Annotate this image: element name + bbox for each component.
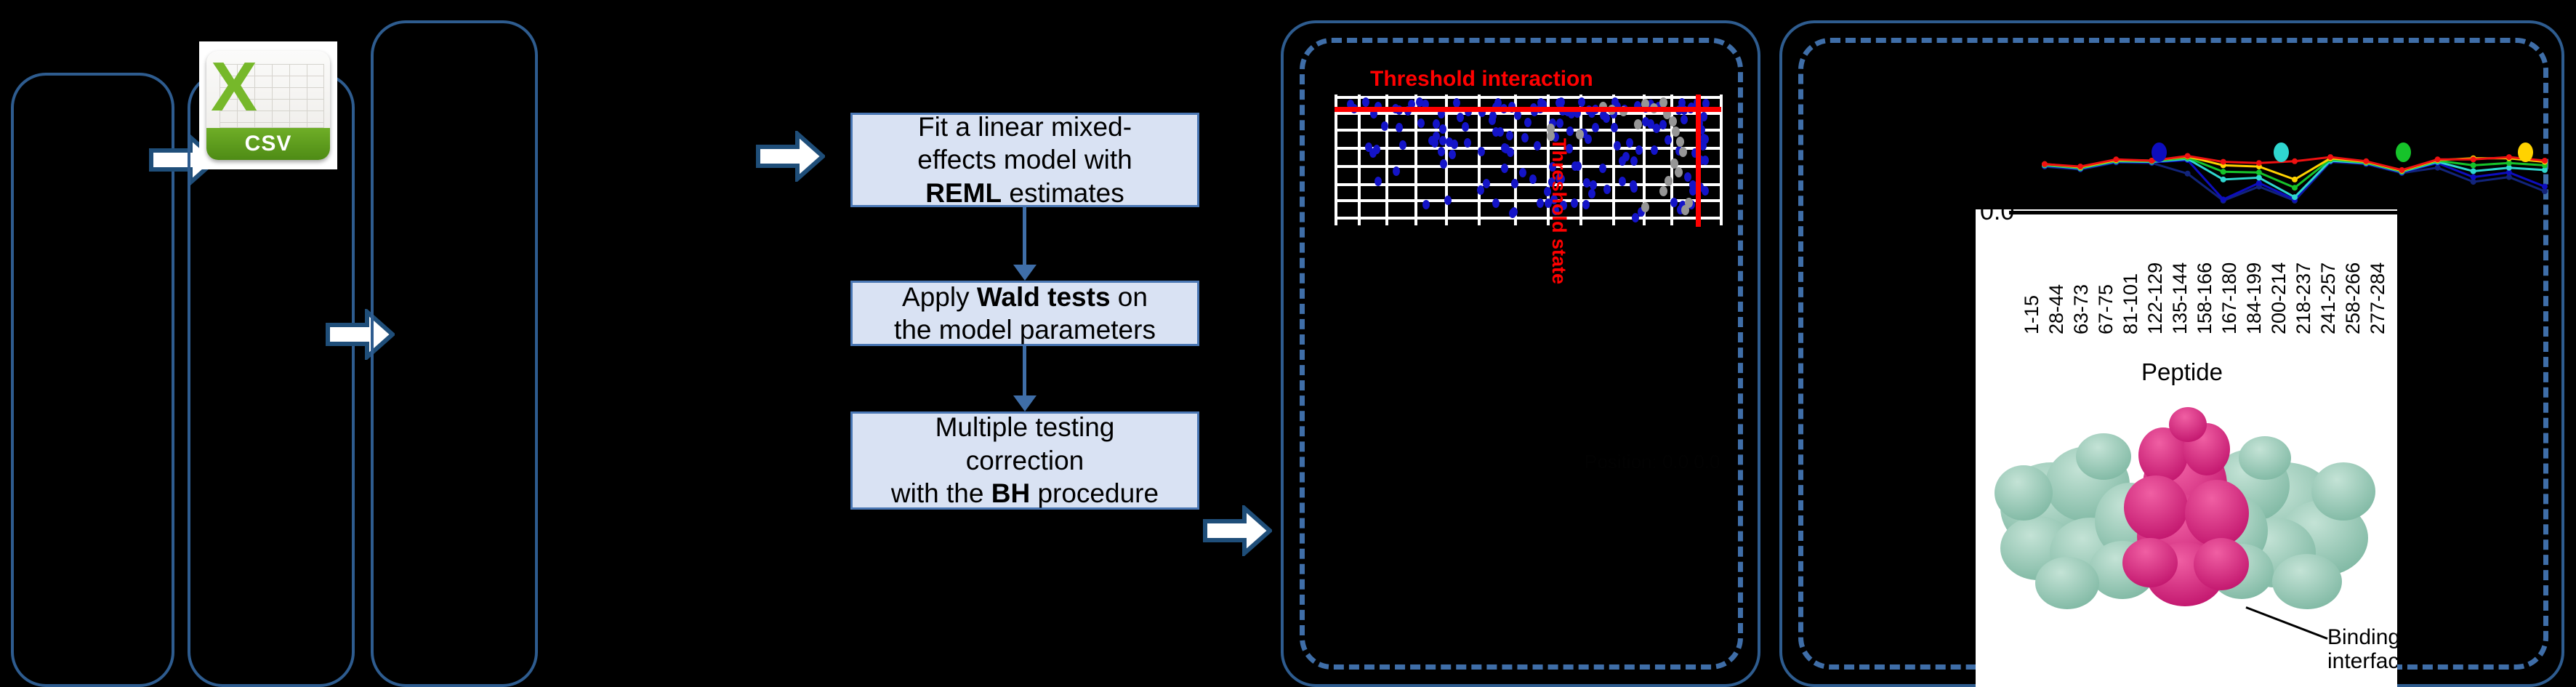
- scatter-point: [1582, 200, 1590, 209]
- connector-1-arrowhead: [1013, 265, 1037, 281]
- scatter-point: [1599, 164, 1606, 173]
- scatter-point: [1630, 156, 1638, 166]
- peptide-series-marker: [2256, 180, 2262, 186]
- peptide-legend-dot: [2274, 142, 2289, 162]
- peptide-legend-dot: [2396, 142, 2411, 162]
- scatter-point: [1446, 137, 1453, 147]
- peptide-series-marker: [2506, 154, 2512, 160]
- scatter-point: [1478, 147, 1485, 156]
- peptide-tick-label: 67-75: [2095, 284, 2117, 334]
- scatter-point: [1619, 177, 1626, 186]
- scatter-point: [1702, 156, 1709, 165]
- bh-correction-box-text: Multiple testingcorrectionwith the BH pr…: [891, 411, 1159, 510]
- csv-x-letter: X: [211, 54, 254, 120]
- peptide-line-chart: [2032, 129, 2555, 213]
- fit-model-box[interactable]: Fit a linear mixed-effects model withREM…: [850, 113, 1199, 207]
- fit-model-box-text: Fit a linear mixed-effects model withREM…: [917, 111, 1132, 210]
- binding-interface-line1: Binding: [2327, 625, 2397, 649]
- scatter-point: [1483, 179, 1490, 188]
- scatter-gridline-h: [1335, 165, 1721, 168]
- scatter-point: [1492, 198, 1500, 208]
- pipeline-figure: X CSV Fit a linear mixed-effects model w…: [0, 0, 2576, 687]
- peptide-series-marker: [2471, 174, 2476, 180]
- scatter-point: [1477, 185, 1484, 195]
- scatter-point-nonsignificant: [1634, 119, 1642, 129]
- peptide-tick-label: 28-44: [2045, 284, 2068, 334]
- position-readout: Position: 0.0 0.0: [1585, 451, 1720, 473]
- peptide-series-marker: [2221, 159, 2226, 165]
- peptide-series-marker: [2256, 169, 2262, 175]
- peptide-legend-dot: [2152, 142, 2167, 162]
- scatter-point: [1537, 198, 1544, 208]
- scatter-point: [1438, 147, 1445, 156]
- arrow-csv-to-model: [756, 131, 825, 182]
- csv-file-icon: X CSV: [199, 41, 337, 169]
- scatter-point: [1444, 196, 1452, 205]
- scatter-point-nonsignificant: [1669, 116, 1677, 126]
- peptide-tick-label: 277-284: [2367, 262, 2389, 334]
- scatter-gridline-h: [1335, 199, 1721, 202]
- peptide-series-marker: [2363, 158, 2369, 164]
- y-axis-top-value: 0.0: [1980, 209, 2014, 226]
- scatter-point-nonsignificant: [1679, 147, 1687, 157]
- peptide-tick-label: 167-180: [2218, 262, 2241, 334]
- scatter-point-nonsignificant: [1681, 205, 1689, 215]
- peptide-axis-line: [2009, 211, 2397, 214]
- scatter-point: [1396, 123, 1403, 132]
- peptide-series-marker: [2292, 194, 2298, 200]
- scatter-point: [1449, 150, 1456, 159]
- peptide-axis-title: Peptide: [2141, 358, 2223, 386]
- peptide-series-marker: [2185, 171, 2191, 177]
- csv-extension-label: CSV: [245, 132, 292, 156]
- peptide-series-marker: [2542, 158, 2548, 164]
- peptide-series-marker: [2221, 169, 2226, 174]
- scatter-point: [1489, 116, 1496, 125]
- scatter-point: [1665, 135, 1672, 145]
- scatter-point: [1362, 97, 1369, 107]
- scatter-point: [1583, 178, 1590, 188]
- peptide-series-marker: [2113, 156, 2119, 162]
- peptide-series-marker: [2292, 177, 2298, 182]
- scatter-point: [1433, 119, 1440, 129]
- threshold-state-label: Threshold state: [1547, 138, 1570, 284]
- peptide-tick-label: 218-237: [2293, 262, 2315, 334]
- wald-tests-box[interactable]: Apply Wald tests onthe model parameters: [850, 281, 1199, 346]
- scatter-gridline-h: [1335, 147, 1721, 150]
- scatter-point: [1566, 126, 1574, 136]
- csv-badge: X CSV: [206, 51, 330, 160]
- scatter-point: [1578, 97, 1585, 107]
- scatter-point: [1422, 200, 1430, 209]
- scatter-point: [1681, 115, 1688, 124]
- peptide-tick-label: 122-129: [2144, 262, 2167, 334]
- protein-structure-image: [1995, 398, 2387, 638]
- scatter-point: [1622, 152, 1630, 161]
- peptide-tick-label: 1-15: [2021, 295, 2043, 334]
- scatter-point: [1462, 122, 1469, 132]
- scatter-point-nonsignificant: [1675, 167, 1683, 177]
- connector-2: [1023, 346, 1026, 397]
- bh-correction-box[interactable]: Multiple testingcorrectionwith the BH pr…: [850, 411, 1199, 510]
- scatter-point: [1611, 123, 1618, 132]
- threshold-interaction-title: Threshold interaction: [1370, 67, 1593, 92]
- scatter-point: [1428, 136, 1436, 145]
- scatter-point-nonsignificant: [1672, 126, 1680, 137]
- scatter-point: [1393, 166, 1400, 176]
- scatter-canvas: [1329, 89, 1725, 227]
- scatter-point: [1529, 174, 1537, 184]
- peptide-tick-label: 200-214: [2268, 262, 2290, 334]
- connector-1: [1023, 207, 1026, 267]
- scatter-point: [1556, 118, 1563, 128]
- peptide-series-marker: [2256, 174, 2262, 180]
- scatter-point: [1632, 213, 1639, 222]
- scatter-point: [1381, 121, 1388, 131]
- scatter-point-nonsignificant: [1576, 129, 1584, 140]
- peptide-tick-label: 81-101: [2120, 273, 2142, 334]
- scatter-point: [1501, 164, 1508, 173]
- peptide-series-marker: [2471, 169, 2476, 174]
- peptide-series-marker: [2256, 160, 2262, 166]
- peptide-series-marker: [2471, 162, 2476, 168]
- scatter-point: [1511, 179, 1518, 188]
- peptide-legend-dot: [2518, 142, 2533, 162]
- scatter-point: [1521, 133, 1529, 142]
- peptide-series-marker: [2327, 154, 2333, 160]
- peptide-series-marker: [2435, 156, 2441, 162]
- peptide-series-marker: [2042, 161, 2048, 167]
- peptide-series-marker: [2471, 156, 2476, 162]
- peptide-series-marker: [2185, 153, 2191, 159]
- peptide-tick-label: 63-73: [2070, 284, 2093, 334]
- scatter-point: [1453, 98, 1460, 108]
- peptide-series-marker: [2221, 196, 2226, 202]
- scatter-point: [1457, 113, 1464, 122]
- scatter-point: [1590, 180, 1597, 190]
- scatter-point: [1614, 141, 1621, 150]
- binding-interface-line2: interface: [2327, 649, 2397, 673]
- peptide-tick-label: 184-199: [2243, 262, 2266, 334]
- peptide-series-marker: [2542, 184, 2548, 190]
- scatter-point: [1571, 161, 1579, 171]
- scatter-point: [1510, 207, 1518, 217]
- wald-tests-box-text: Apply Wald tests onthe model parameters: [894, 281, 1156, 347]
- scatter-point: [1501, 143, 1508, 153]
- peptide-tick-label: 158-166: [2194, 262, 2216, 334]
- scatter-point: [1635, 145, 1643, 155]
- peptide-structure-card: 0.0 1-1528-4463-7367-7581-101122-129135-…: [1976, 209, 2397, 687]
- scatter-point: [1374, 177, 1382, 186]
- scatter-point: [1506, 131, 1513, 140]
- scatter-point: [1439, 124, 1446, 134]
- scatter-point: [1497, 127, 1504, 137]
- peptide-series-marker: [2077, 164, 2083, 169]
- scatter-point: [1464, 138, 1471, 148]
- scatter-point: [1603, 113, 1610, 123]
- scatter-point: [1439, 136, 1446, 145]
- scatter-point: [1417, 118, 1425, 128]
- scatter-point: [1651, 145, 1658, 155]
- csv-extension-band: CSV: [206, 128, 330, 160]
- scatter-point: [1365, 142, 1372, 152]
- peptide-tick-label: 135-144: [2169, 262, 2191, 334]
- threshold-state-line: [1696, 95, 1701, 227]
- scatter-point: [1592, 123, 1599, 132]
- scatter-point: [1630, 183, 1638, 193]
- scatter-point: [1702, 134, 1709, 144]
- scatter-point: [1626, 138, 1633, 148]
- scatter-point-nonsignificant: [1676, 137, 1684, 147]
- arrow-model-to-plot: [1203, 505, 1272, 556]
- peptide-tick-label: 241-257: [2317, 262, 2340, 334]
- scatter-point: [1524, 118, 1531, 127]
- scatter-point: [1440, 159, 1447, 169]
- connector-2-arrowhead: [1013, 395, 1037, 411]
- scatter-point-nonsignificant: [1659, 97, 1667, 108]
- scatter-point-nonsignificant: [1659, 186, 1667, 196]
- peptide-series-marker: [2292, 185, 2298, 190]
- scatter-point: [1603, 185, 1611, 194]
- peptide-tick-label: 258-266: [2342, 262, 2364, 334]
- scatter-point: [1519, 168, 1526, 177]
- threshold-interaction-line: [1335, 107, 1721, 112]
- panel-statistical-model: [371, 20, 538, 687]
- peptide-series-marker: [2292, 158, 2298, 164]
- peptide-series-marker: [2221, 177, 2226, 182]
- binding-interface-label: Binding interface: [2327, 625, 2397, 673]
- scatter-point-nonsignificant: [1641, 202, 1649, 212]
- scatter-gridline-h: [1335, 217, 1721, 220]
- scatter-point: [1373, 145, 1380, 154]
- scatter-point: [1659, 120, 1667, 129]
- peptide-series-svg: [2032, 129, 2555, 213]
- peptide-series-marker: [2399, 167, 2404, 173]
- scatter-point: [1571, 198, 1578, 208]
- scatter-point-nonsignificant: [1665, 176, 1673, 186]
- scatter-point: [1670, 198, 1678, 207]
- scatter-point: [1588, 189, 1595, 198]
